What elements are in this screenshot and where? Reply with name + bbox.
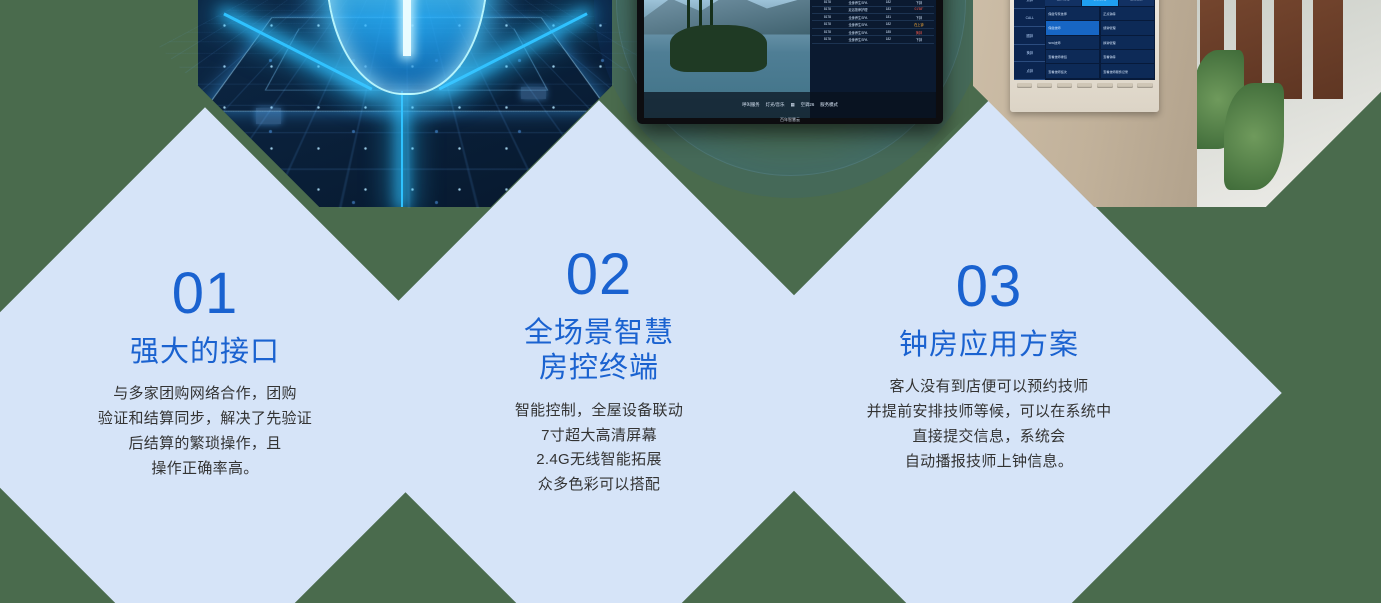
card-number: 02 (566, 246, 633, 304)
cell: 8178 (812, 15, 843, 20)
cell: 足浴按摩护理 (843, 7, 874, 12)
card-body: 客人没有到店便可以预约技师 并提前安排技师等候，可以在系统中 直接提交信息，系统… (867, 375, 1112, 474)
toolbar-item-call-service[interactable]: 呼叫服务 (742, 102, 760, 108)
apps-grid-icon[interactable]: ▦ (790, 102, 794, 108)
room-terminal-device[interactable]: CS1280 22:35 SPA6房 25°C 11/24 (637, 0, 943, 124)
toolbar-item-aircon[interactable]: 空调26 (801, 102, 815, 108)
card-body-line: 自动播报技师上钟信息。 (867, 450, 1112, 475)
cell: 8178 (812, 29, 843, 34)
cell: 181 (873, 15, 904, 20)
table-row: 8178 全身养生SPA 182 下钟 (812, 36, 934, 43)
card-body-line: 后结算的繁琐操作，且 (98, 432, 312, 457)
card-title: 全场景智慧 房控终端 (524, 316, 674, 387)
wood-partition (1313, 0, 1343, 99)
side-button[interactable]: 换钟 (1014, 45, 1045, 63)
side-button[interactable]: 点钟 (1014, 62, 1045, 80)
cell: 182 (873, 37, 904, 42)
card-body-line: 7寸超大高清屏幕 (515, 424, 683, 449)
side-button[interactable]: 圈钟 (1014, 27, 1045, 45)
panel-menu-lists: 保健专家技师 保健技师 SPA技师 查看技师排班 查看技师班次 正点钟房 续钟管… (1045, 6, 1155, 80)
hardware-button[interactable] (1117, 83, 1133, 88)
menu-item[interactable]: 正点钟房 (1101, 7, 1154, 20)
card-body-line: 操作正确率高。 (98, 457, 312, 482)
menu-item-selected[interactable]: 保健技师 (1046, 21, 1099, 34)
panel-side-buttons[interactable]: 点钟 CALL 圈钟 换钟 点钟 (1014, 0, 1045, 80)
cell: 185 (873, 29, 904, 34)
cell: 8178 (812, 7, 843, 12)
card-body: 智能控制，全屋设备联动 7寸超大高清屏幕 2.4G无线智能拓展 众多色彩可以搭配 (515, 399, 683, 498)
hardware-button[interactable] (1137, 83, 1153, 88)
cell: 全身养生SPA (843, 29, 874, 34)
hardware-button[interactable] (1077, 83, 1093, 88)
menu-item[interactable]: 查看技师服务记录 (1101, 64, 1154, 77)
corridor-background (1188, 0, 1381, 207)
cell: 8178 (812, 37, 843, 42)
card-body-line: 智能控制，全屋设备联动 (515, 399, 683, 424)
cell: 全身养生SPA (843, 22, 874, 27)
toolbar-item-service-mode[interactable]: 服务模式 (820, 102, 838, 108)
card-body-line: 众多色彩可以搭配 (515, 473, 683, 498)
menu-item[interactable]: 查看钟房 (1101, 50, 1154, 63)
panel-menu-left-column[interactable]: 保健专家技师 保健技师 SPA技师 查看技师排班 查看技师班次 (1045, 6, 1100, 80)
cell: 8178 (812, 22, 843, 27)
hardware-button[interactable] (1037, 83, 1053, 88)
feature-diamond-banner: 01 强大的接口 与多家团购网络合作，团购 验证和结算同步，解决了先验证 后结算… (0, 0, 1381, 603)
card-number: 01 (172, 265, 239, 323)
card-title-line: 房控终端 (524, 351, 674, 386)
menu-item[interactable]: 换钟管理 (1101, 36, 1154, 49)
terminal-screen[interactable]: 22:35 SPA6房 25°C 11/24 客人 项目 钟师 状态 (644, 0, 936, 118)
device-brand-label: 百年智慧云 (637, 117, 943, 123)
card-body-line: 与多家团购网络合作，团购 (98, 382, 312, 407)
cell: 全身养生SPA (843, 15, 874, 20)
plant (1224, 83, 1284, 191)
card-body-line: 验证和结算同步，解决了先验证 (98, 407, 312, 432)
card-title-line: 全场景智慧 (524, 316, 674, 351)
menu-item[interactable]: 查看技师班次 (1046, 64, 1099, 77)
cell: 全身养生SPA (843, 0, 874, 5)
cell: 8178 (812, 0, 843, 5)
side-button[interactable]: 点钟 (1014, 0, 1045, 9)
hardware-button[interactable] (1017, 83, 1033, 88)
toolbar-item-light-music[interactable]: 灯光/音乐 (766, 102, 785, 108)
panel-screen[interactable]: 点钟 CALL 圈钟 换钟 点钟 技师管理 钟房管理 客房服务 (1014, 0, 1155, 80)
light-beam (401, 91, 404, 207)
tree (687, 0, 690, 50)
tree (699, 0, 702, 50)
card-body-line: 2.4G无线智能拓展 (515, 448, 683, 473)
menu-item[interactable]: 查看技师排班 (1046, 50, 1099, 63)
menu-item[interactable]: SPA技师 (1046, 36, 1099, 49)
panel-menu-right-column[interactable]: 正点钟房 续钟管理 换钟管理 查看钟房 查看技师服务记录 (1100, 6, 1155, 80)
terminal-toolbar[interactable]: 呼叫服务 灯光/音乐 ▦ 空调26 服务模式 (644, 92, 936, 118)
panel-hardware-buttons[interactable] (1014, 83, 1155, 88)
wall-control-panel[interactable]: 点钟 CALL 圈钟 换钟 点钟 技师管理 钟房管理 客房服务 (1010, 0, 1159, 112)
card-body-line: 客人没有到店便可以预约技师 (867, 375, 1112, 400)
card-title-line: 强大的接口 (130, 335, 280, 370)
tree (710, 0, 713, 52)
cell: 全身养生SPA (843, 37, 874, 42)
card-body-line: 直接提交信息，系统会 (867, 425, 1112, 450)
table-row: 8178 全身养生SPA 185 换钟 (812, 29, 934, 36)
cell: 182 (873, 22, 904, 27)
card-number: 03 (956, 258, 1023, 316)
menu-item[interactable]: 续钟管理 (1101, 21, 1154, 34)
card-body-line: 并提前安排技师等候，可以在系统中 (867, 400, 1112, 425)
card-body: 与多家团购网络合作，团购 验证和结算同步，解决了先验证 后结算的繁琐操作，且 操… (98, 382, 312, 481)
card-title: 钟房应用方案 (899, 328, 1079, 363)
hardware-button[interactable] (1057, 83, 1073, 88)
side-button[interactable]: CALL (1014, 9, 1045, 27)
menu-item[interactable]: 保健专家技师 (1046, 7, 1099, 20)
card-title: 强大的接口 (130, 335, 280, 370)
hardware-button[interactable] (1097, 83, 1113, 88)
card-title-line: 钟房应用方案 (899, 328, 1079, 363)
panel-main-area: 技师管理 钟房管理 客房服务 保健专家技师 保健技师 SPA技师 查看技师排班 … (1045, 0, 1155, 80)
